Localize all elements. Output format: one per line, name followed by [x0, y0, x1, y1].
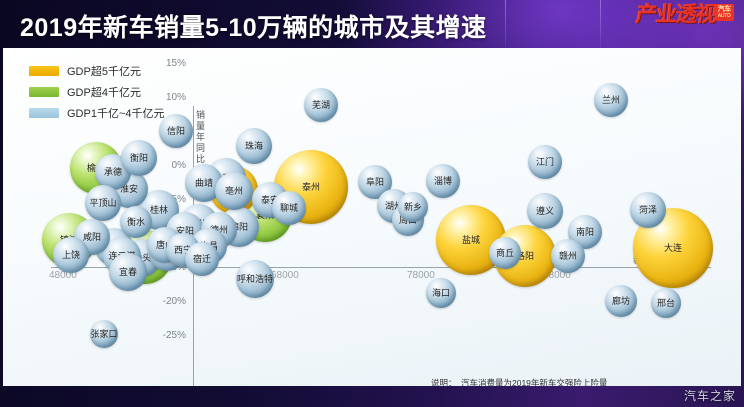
bubble-label: 遵义: [536, 206, 554, 216]
legend-swatch-gdp5: [29, 66, 59, 76]
bubble-label: 芜湖: [312, 100, 330, 110]
bubble-菏泽[interactable]: 菏泽: [630, 192, 666, 228]
bubble-label: 衡水: [127, 217, 145, 227]
bubble-label: 新乡: [404, 202, 422, 212]
bubble-label: 邢台: [657, 298, 675, 308]
bubble-label: 亳州: [225, 186, 243, 196]
legend-swatch-gdp1to4: [29, 108, 59, 118]
note-key: 说明：: [431, 378, 461, 386]
y-axis-tick: -25%: [146, 330, 186, 341]
bubble-label: 宜春: [119, 267, 137, 277]
bubble-label: 珠海: [245, 141, 263, 151]
bubble-label: 衡阳: [130, 153, 148, 163]
bubble-label: 菏泽: [639, 205, 657, 215]
y-axis-tick: 10%: [146, 92, 186, 103]
bubble-聊城[interactable]: 聊城: [272, 191, 306, 225]
bubble-亳州[interactable]: 亳州: [215, 172, 253, 210]
page-header: 2019年新车销量5-10万辆的城市及其增速 产业透视 汽车 AUTO: [0, 0, 744, 48]
bubble-label: 曲靖: [195, 178, 213, 188]
bubble-label: 咸阳: [83, 232, 101, 242]
bubble-张家口[interactable]: 张家口: [90, 320, 118, 348]
bubble-芜湖[interactable]: 芜湖: [304, 88, 338, 122]
bubble-label: 平顶山: [89, 198, 116, 208]
bubble-衡水[interactable]: 衡水: [120, 206, 152, 238]
bubble-兰州[interactable]: 兰州: [594, 83, 628, 117]
bubble-江门[interactable]: 江门: [528, 145, 562, 179]
bubble-label: 宿迁: [193, 254, 211, 264]
legend-item-gdp5: GDP超5千亿元: [29, 60, 165, 81]
bubble-平顶山[interactable]: 平顶山: [85, 185, 121, 221]
x-axis-tick: 78000: [407, 270, 435, 281]
note-line: 说明： 汽车消费量为2019年新车交强险上险量: [431, 378, 677, 386]
bubble-label: 商丘: [496, 248, 514, 258]
bubble-宿迁[interactable]: 宿迁: [185, 242, 219, 276]
bubble-label: 张家口: [90, 329, 117, 339]
brand-logo-badge-sub: AUTO: [718, 14, 731, 19]
bubble-上饶[interactable]: 上饶: [53, 237, 89, 273]
bubble-淄博[interactable]: 淄博: [426, 164, 460, 198]
chart-panel: GDP超5千亿元 GDP超4千亿元 GDP1千亿~4千亿元 销量年同比变化 新车…: [3, 48, 741, 386]
bubble-赣州[interactable]: 赣州: [551, 239, 585, 273]
legend-label-gdp5: GDP超5千亿元: [67, 63, 141, 79]
bubble-label: 承德: [104, 167, 122, 177]
bubble-label: 赣州: [559, 251, 577, 261]
bubble-label: 聊城: [280, 203, 298, 213]
legend-item-gdp1to4: GDP1千亿~4千亿元: [29, 102, 165, 123]
legend-label-gdp1to4: GDP1千亿~4千亿元: [67, 105, 165, 121]
bubble-邢台[interactable]: 邢台: [651, 288, 681, 318]
bubble-label: 桂林: [150, 205, 168, 215]
bubble-label: 廊坊: [612, 296, 630, 306]
bubble-商丘[interactable]: 商丘: [489, 237, 521, 269]
page-title: 2019年新车销量5-10万辆的城市及其增速: [20, 8, 487, 44]
legend-label-gdp4: GDP超4千亿元: [67, 84, 141, 100]
chart-legend: GDP超5千亿元 GDP超4千亿元 GDP1千亿~4千亿元: [29, 60, 165, 123]
bubble-label: 南阳: [576, 227, 594, 237]
bubble-label: 盐城: [462, 235, 480, 245]
bubble-呼和浩特[interactable]: 呼和浩特: [236, 260, 274, 298]
bubble-label: 上饶: [62, 250, 80, 260]
brand-logo: 产业透视 汽车 AUTO: [628, 2, 736, 48]
brand-logo-badge: 汽车 AUTO: [715, 4, 734, 21]
bubble-label: 江门: [536, 157, 554, 167]
bubble-衡阳[interactable]: 衡阳: [121, 140, 157, 176]
bubble-海口[interactable]: 海口: [426, 278, 456, 308]
bubble-label: 呼和浩特: [237, 274, 273, 284]
bubble-label: 泰州: [302, 182, 320, 192]
y-axis-tick: 15%: [146, 58, 186, 69]
bubble-label: 阜阳: [366, 177, 384, 187]
legend-item-gdp4: GDP超4千亿元: [29, 81, 165, 102]
x-axis-tick: 68000: [271, 270, 299, 281]
bubble-新乡[interactable]: 新乡: [398, 192, 428, 222]
bubble-廊坊[interactable]: 廊坊: [605, 285, 637, 317]
y-axis-tick: -20%: [146, 296, 186, 307]
bubble-label: 兰州: [602, 95, 620, 105]
note-text: 汽车消费量为2019年新车交强险上险量: [461, 378, 607, 386]
brand-logo-text: 产业透视: [635, 5, 717, 25]
bubble-遵义[interactable]: 遵义: [527, 193, 563, 229]
bubble-label: 海口: [432, 288, 450, 298]
bubble-宜春[interactable]: 宜春: [109, 253, 147, 291]
bubble-珠海[interactable]: 珠海: [236, 128, 272, 164]
chart-note: 说明： 汽车消费量为2019年新车交强险上险量 气泡大小代表城市当年GDP总量 …: [431, 378, 677, 386]
bubble-label: 淄博: [434, 176, 452, 186]
bubble-信阳[interactable]: 信阳: [159, 114, 193, 148]
watermark: 汽车之家: [684, 387, 736, 404]
brand-logo-badge-main: 汽车: [718, 6, 731, 13]
bubble-label: 信阳: [167, 126, 185, 136]
screenshot-root: 2019年新车销量5-10万辆的城市及其增速 产业透视 汽车 AUTO GDP超…: [0, 0, 744, 407]
legend-swatch-gdp4: [29, 87, 59, 97]
bubble-label: 大连: [664, 243, 682, 253]
